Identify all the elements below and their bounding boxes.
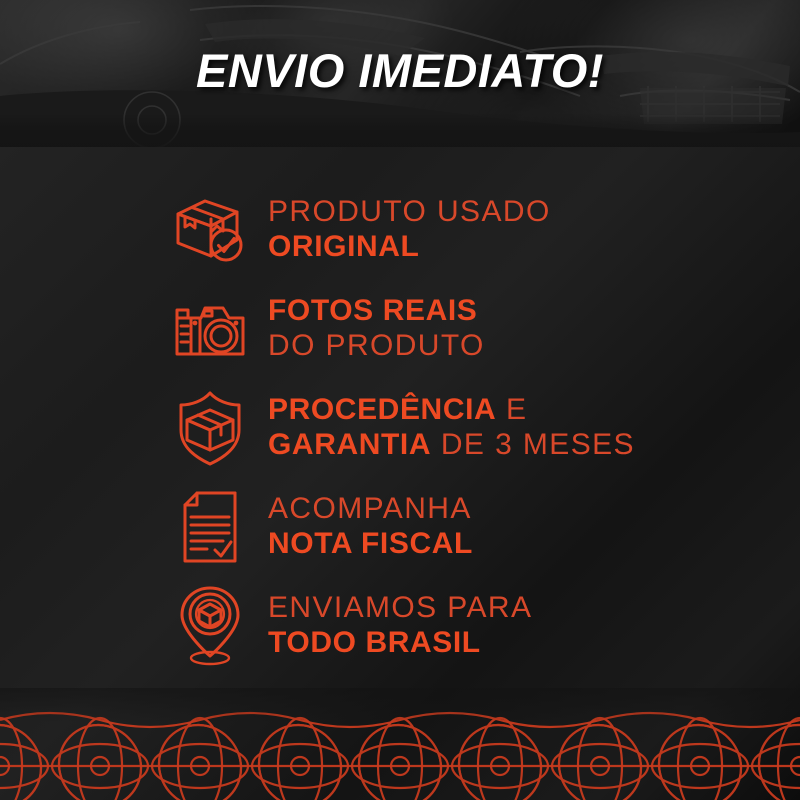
page-title: ENVIO IMEDIATO! [0,43,800,98]
feature-row-fotos-reais: FOTOS REAIS DO PRODUTO [0,279,800,378]
location-pin-box-icon [168,584,252,668]
feature-line-1: PROCEDÊNCIA E [268,395,635,425]
invoice-document-icon [168,485,252,569]
feature-line-1: ACOMPANHA [268,494,473,524]
floral-ellipse-border [0,688,800,800]
feature-line-1-thin: E [496,393,527,426]
feature-line-2-bold: GARANTIA [268,428,431,461]
features-section: PRODUTO USADO ORIGINAL [0,147,800,800]
header-bottom-fade [0,113,800,147]
feature-line-1-bold: PROCEDÊNCIA [268,393,496,426]
feature-line-1: ENVIAMOS PARA [268,593,532,623]
feature-text: ACOMPANHA NOTA FISCAL [268,494,473,559]
feature-line-1: PRODUTO USADO [268,197,551,227]
feature-line-2: ORIGINAL [268,232,551,262]
feature-row-procedencia-garantia: PROCEDÊNCIA E GARANTIA DE 3 MESES [0,378,800,477]
feature-line-2: GARANTIA DE 3 MESES [268,430,635,460]
feature-line-1: FOTOS REAIS [268,296,485,326]
feature-text: ENVIAMOS PARA TODO BRASIL [268,593,532,658]
feature-line-2: TODO BRASIL [268,628,532,658]
shield-box-icon [168,386,252,470]
feature-line-2: NOTA FISCAL [268,529,473,559]
feature-line-2-thin: DE 3 MESES [431,428,635,461]
feature-text: PRODUTO USADO ORIGINAL [268,197,551,262]
feature-text: PROCEDÊNCIA E GARANTIA DE 3 MESES [268,395,635,460]
feature-row-todo-brasil: ENVIAMOS PARA TODO BRASIL [0,576,800,675]
feature-line-2: DO PRODUTO [268,331,485,361]
promo-banner: ENVIO IMEDIATO! PRO [0,0,800,800]
camera-icon [168,287,252,371]
box-check-icon [168,188,252,272]
banner-header: ENVIO IMEDIATO! [0,0,800,147]
feature-row-produto-usado-original: PRODUTO USADO ORIGINAL [0,180,800,279]
feature-row-nota-fiscal: ACOMPANHA NOTA FISCAL [0,477,800,576]
feature-text: FOTOS REAIS DO PRODUTO [268,296,485,361]
feature-list: PRODUTO USADO ORIGINAL [0,180,800,675]
